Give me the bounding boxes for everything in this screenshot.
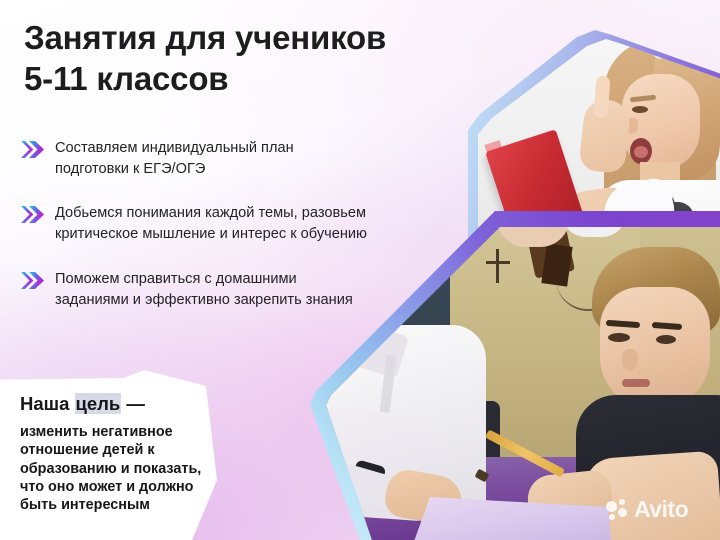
headline-line-1: Занятия для учеников	[24, 19, 386, 56]
headline-line-2: 5-11 классов	[24, 59, 454, 100]
photo-image-bottom	[300, 205, 720, 540]
goal-title-highlight: цель	[75, 393, 122, 414]
goal-card-body: изменить негативное отношение детей к об…	[20, 423, 220, 514]
goal-title-dash: —	[121, 393, 145, 414]
page-title: Занятия для учеников 5-11 классов	[24, 18, 454, 100]
promo-poster: Занятия для учеников 5-11 классов Состав…	[0, 0, 720, 540]
list-item-label: Составляем индивидуальный план подготовк…	[55, 138, 370, 179]
double-chevron-icon	[20, 204, 46, 225]
list-item: Составляем индивидуальный план подготовк…	[20, 138, 370, 179]
double-chevron-icon	[20, 139, 46, 160]
photo-tutor-and-student	[300, 205, 720, 540]
double-chevron-icon	[20, 270, 46, 291]
avito-wordmark: Avito	[634, 498, 688, 521]
goal-card-title: Наша цель —	[20, 394, 220, 414]
goal-card: Наша цель — изменить негативное отношени…	[0, 370, 252, 540]
avito-watermark: Avito	[606, 498, 688, 521]
avito-dots-icon	[606, 499, 628, 521]
goal-title-plain: Наша	[20, 393, 75, 414]
